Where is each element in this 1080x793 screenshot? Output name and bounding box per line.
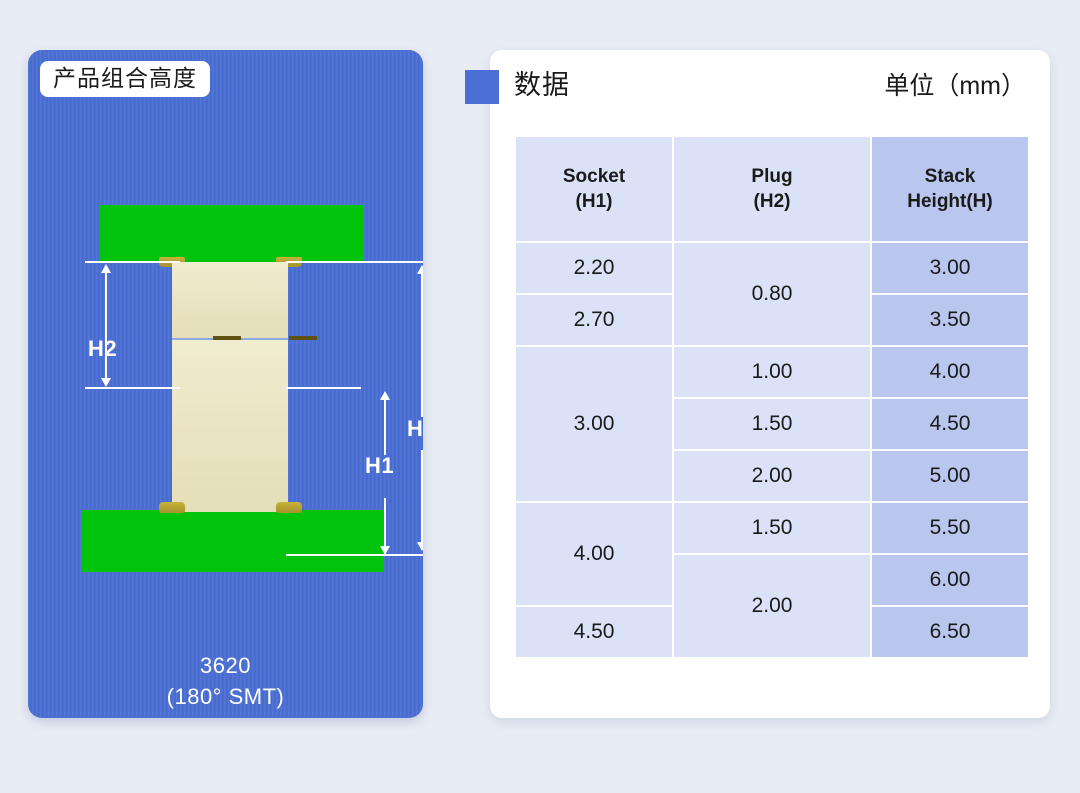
- column-header-socket: Socket (H1): [516, 137, 672, 241]
- cell-socket-height: 4.50: [516, 607, 672, 657]
- h-dimension-shaft-upper: [421, 267, 423, 417]
- h-dimension-shaft-lower: [421, 450, 423, 550]
- cell-plug-height: 1.50: [674, 503, 870, 553]
- h2-extension-line-bottom: [85, 387, 180, 389]
- h-arrow-up-icon: [417, 265, 423, 274]
- h2-dimension-shaft: [105, 266, 107, 383]
- h2-dimension-label: H2: [88, 338, 117, 360]
- socket-header-line1: Socket: [563, 166, 625, 187]
- cell-plug-height: 1.50: [674, 399, 870, 449]
- table-header-row: Socket (H1) Plug (H2) Stack Height(H): [516, 137, 1028, 241]
- h2-arrow-down-icon: [101, 378, 111, 387]
- column-header-stack-height: Stack Height(H): [872, 137, 1028, 241]
- h1-arrow-up-icon: [380, 391, 390, 400]
- cell-stack-height: 4.50: [872, 399, 1028, 449]
- table-body: 2.200.803.002.703.503.001.004.001.504.50…: [516, 243, 1028, 657]
- h1-dimension-label: H1: [365, 455, 394, 477]
- cell-plug-height: 1.00: [674, 347, 870, 397]
- table-row: 3.001.004.00: [516, 347, 1028, 397]
- h-extension-line-top: [286, 261, 423, 263]
- cell-stack-height: 5.50: [872, 503, 1028, 553]
- solder-pad-bottom-left: [159, 502, 185, 513]
- cell-socket-height: 2.20: [516, 243, 672, 293]
- cell-plug-height: 2.00: [674, 555, 870, 657]
- diagram-panel: 产品组合高度 H2 H1: [28, 50, 423, 718]
- h2-arrow-up-icon: [101, 264, 111, 273]
- cell-stack-height: 6.50: [872, 607, 1028, 657]
- cell-plug-height: 2.00: [674, 451, 870, 501]
- caption-model-number: 3620: [28, 650, 423, 681]
- data-card-header: 数据 单位（mm）: [490, 50, 1050, 118]
- table-row: 4.001.505.50: [516, 503, 1028, 553]
- socket-header-line2: (H1): [576, 191, 613, 212]
- h-dimension-label: H: [407, 418, 423, 440]
- h1-dimension-shaft-upper: [384, 393, 386, 455]
- plug-header-line2: (H2): [754, 191, 791, 212]
- h-extension-line-bottom: [286, 554, 423, 556]
- cell-stack-height: 4.00: [872, 347, 1028, 397]
- cell-stack-height: 5.00: [872, 451, 1028, 501]
- cell-stack-height: 3.00: [872, 243, 1028, 293]
- unit-label: 单位（mm）: [884, 70, 1026, 103]
- data-card: 数据 单位（mm） Socket (H1) Plug (H2) Stack He…: [490, 50, 1050, 718]
- contact-strip-left: [213, 336, 241, 340]
- cell-plug-height: 0.80: [674, 243, 870, 345]
- diagram-caption: 3620 (180° SMT): [28, 650, 423, 712]
- cell-stack-height: 3.50: [872, 295, 1028, 345]
- cell-stack-height: 6.00: [872, 555, 1028, 605]
- diagram-title-badge: 产品组合高度: [40, 61, 210, 97]
- caption-mount-type: (180° SMT): [28, 681, 423, 712]
- cell-socket-height: 4.00: [516, 503, 672, 605]
- h-arrow-down-icon: [417, 542, 423, 551]
- socket-body: [172, 340, 288, 512]
- stack-height-table: Socket (H1) Plug (H2) Stack Height(H) 2.…: [514, 135, 1030, 659]
- contact-strip-right: [289, 336, 317, 340]
- data-marker-square-icon: [465, 70, 499, 104]
- pcb-top: [99, 205, 364, 263]
- cell-socket-height: 2.70: [516, 295, 672, 345]
- column-header-plug: Plug (H2): [674, 137, 870, 241]
- stack-header-line1: Stack: [925, 166, 976, 187]
- stack-header-line2: Height(H): [907, 191, 992, 212]
- plug-body: [172, 262, 288, 338]
- connector-cross-section: H2 H1 H: [28, 50, 423, 718]
- pcb-bottom: [81, 510, 384, 572]
- h2-extension-line-top: [85, 261, 180, 263]
- cell-socket-height: 3.00: [516, 347, 672, 501]
- solder-pad-bottom-right: [276, 502, 302, 513]
- data-card-title: 数据: [514, 68, 570, 103]
- plug-header-line1: Plug: [751, 166, 792, 187]
- table-row: 2.200.803.00: [516, 243, 1028, 293]
- h1-extension-line-top: [286, 387, 361, 389]
